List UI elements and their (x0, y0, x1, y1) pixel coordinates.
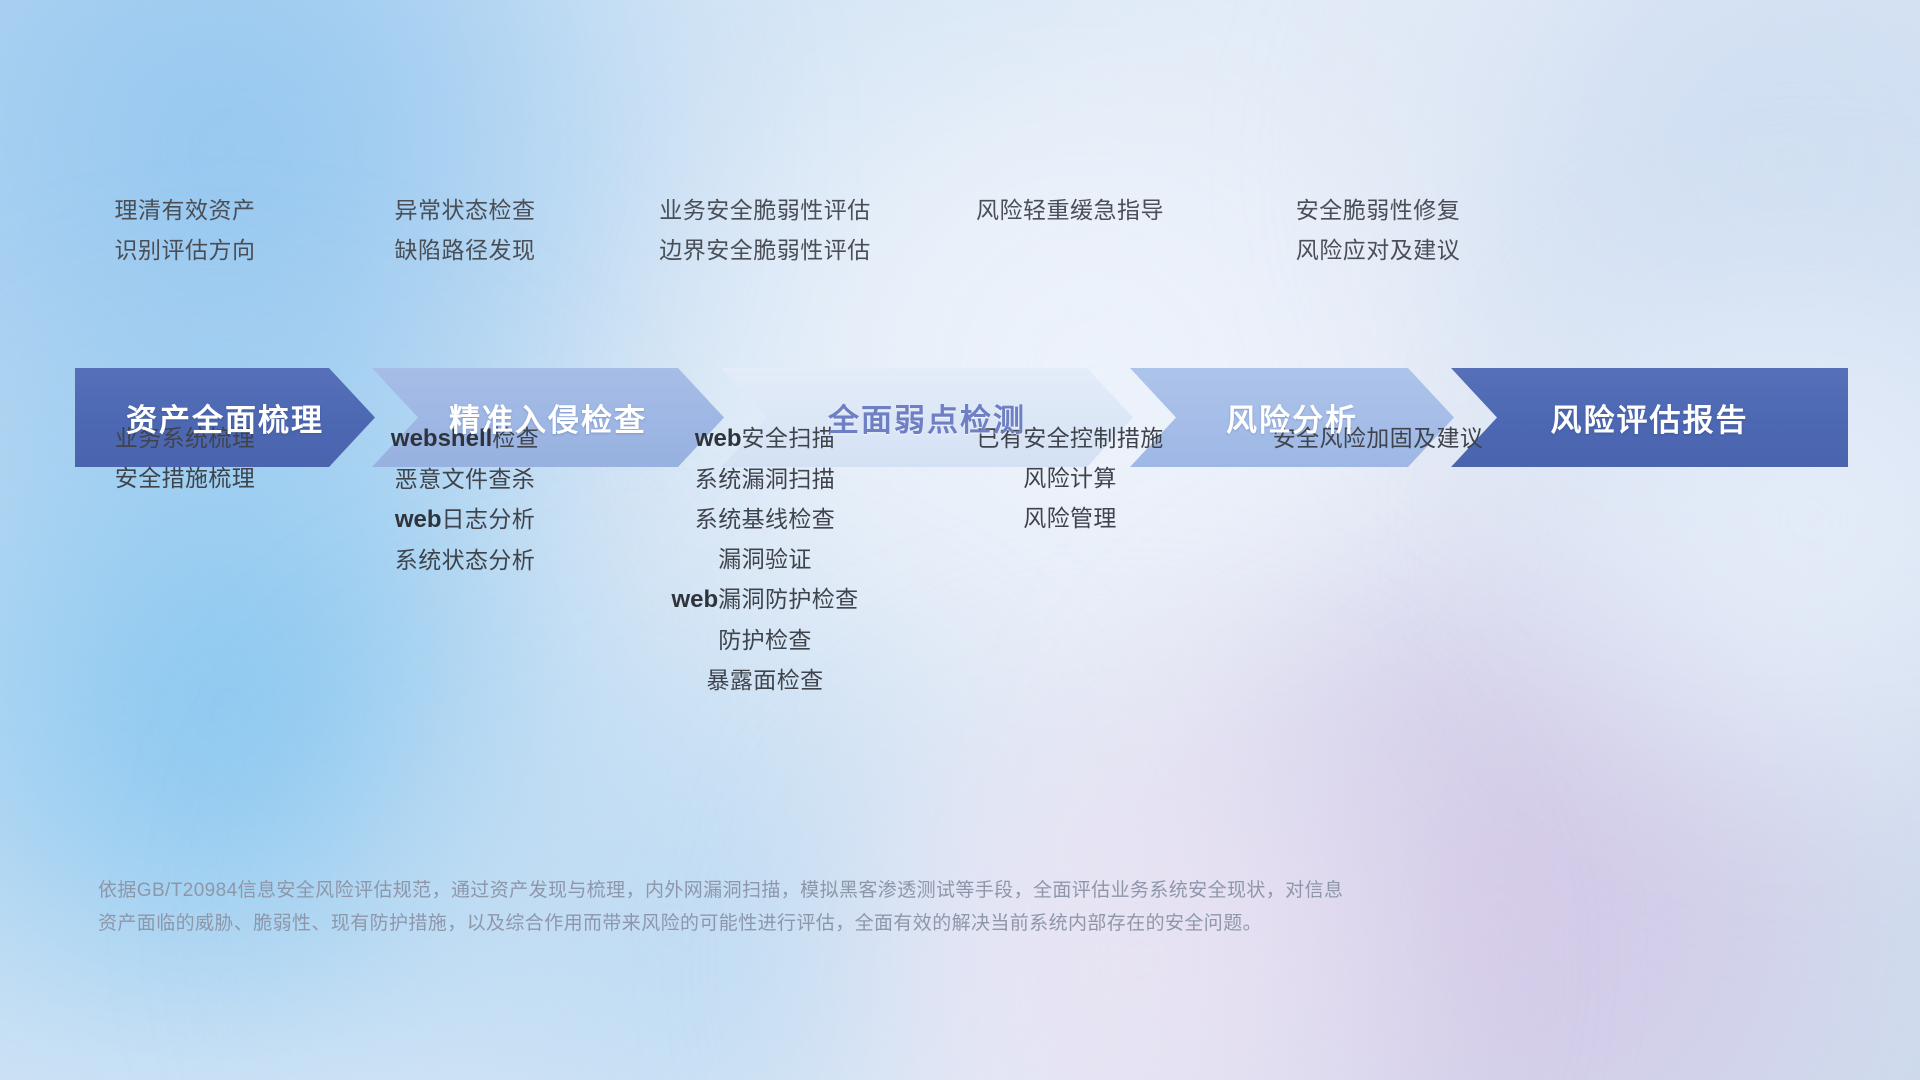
top-note: 识别评估方向 (0, 230, 370, 270)
list-item: web漏洞防护检查 (560, 579, 970, 620)
list-item: 恶意文件查杀 (370, 459, 560, 499)
bottom-items-intrusion-check: webshell检查 恶意文件查杀 web日志分析 系统状态分析 (370, 418, 560, 580)
list-item: 暴露面检查 (560, 660, 970, 700)
list-item-label: 日志分析 (442, 506, 536, 532)
stage-title: 风险分析 (1226, 395, 1358, 440)
list-item: 风险管理 (970, 498, 1170, 538)
stage-title: 全面弱点检测 (828, 395, 1026, 440)
list-item-latin: web (671, 586, 718, 613)
top-note: 缺陷路径发现 (370, 230, 560, 270)
list-item-label: 漏洞防护检查 (718, 586, 858, 612)
list-item: 防护检查 (560, 620, 970, 660)
list-item-label: 安全扫描 (742, 425, 836, 451)
bottom-items-row: 业务系统梳理 安全措施梳理 webshell检查 恶意文件查杀 web日志分析 … (0, 418, 1920, 700)
list-item: 风险计算 (970, 458, 1170, 498)
top-note: 风险轻重缓急指导 (970, 190, 1170, 230)
top-note: 风险应对及建议 (1170, 230, 1586, 270)
stage-title: 资产全面梳理 (126, 395, 324, 440)
process-diagram: 理清有效资产 识别评估方向 异常状态检查 缺陷路径发现 业务安全脆弱性评估 边界… (0, 0, 1920, 1080)
top-note: 安全脆弱性修复 (1170, 190, 1586, 230)
top-note: 理清有效资产 (0, 190, 370, 230)
top-notes-weakness-detection: 业务安全脆弱性评估 边界安全脆弱性评估 (560, 190, 970, 270)
list-item: 系统基线检查 (560, 499, 970, 539)
footer-line: 资产面临的威胁、脆弱性、现有防护措施，以及综合作用而带来风险的可能性进行评估，全… (98, 907, 1618, 940)
footer-description: 依据GB/T20984信息安全风险评估规范，通过资产发现与梳理，内外网漏洞扫描，… (98, 874, 1618, 940)
top-note: 异常状态检查 (370, 190, 560, 230)
top-note: 业务安全脆弱性评估 (560, 190, 970, 230)
list-item: 安全措施梳理 (0, 458, 370, 498)
stage-title: 精准入侵检查 (449, 395, 647, 440)
top-notes-asset-inventory: 理清有效资产 识别评估方向 (0, 190, 370, 270)
top-notes-intrusion-check: 异常状态检查 缺陷路径发现 (370, 190, 560, 270)
list-item: 系统漏洞扫描 (560, 459, 970, 499)
list-item: 系统状态分析 (370, 540, 560, 580)
footer-line: 依据GB/T20984信息安全风险评估规范，通过资产发现与梳理，内外网漏洞扫描，… (98, 874, 1618, 907)
list-item: web日志分析 (370, 499, 560, 540)
list-item-latin: web (395, 506, 442, 533)
top-note: 边界安全脆弱性评估 (560, 230, 970, 270)
list-item-latin: web (695, 425, 742, 452)
list-item: 漏洞验证 (560, 539, 970, 579)
top-notes-risk-analysis: 风险轻重缓急指导 (970, 190, 1170, 270)
bottom-items-weakness-detection: web安全扫描 系统漏洞扫描 系统基线检查 漏洞验证 web漏洞防护检查 防护检… (560, 418, 970, 700)
top-notes-row: 理清有效资产 识别评估方向 异常状态检查 缺陷路径发现 业务安全脆弱性评估 边界… (0, 190, 1920, 270)
top-notes-risk-report: 安全脆弱性修复 风险应对及建议 (1170, 190, 1586, 270)
stage-title: 风险评估报告 (1551, 395, 1749, 440)
